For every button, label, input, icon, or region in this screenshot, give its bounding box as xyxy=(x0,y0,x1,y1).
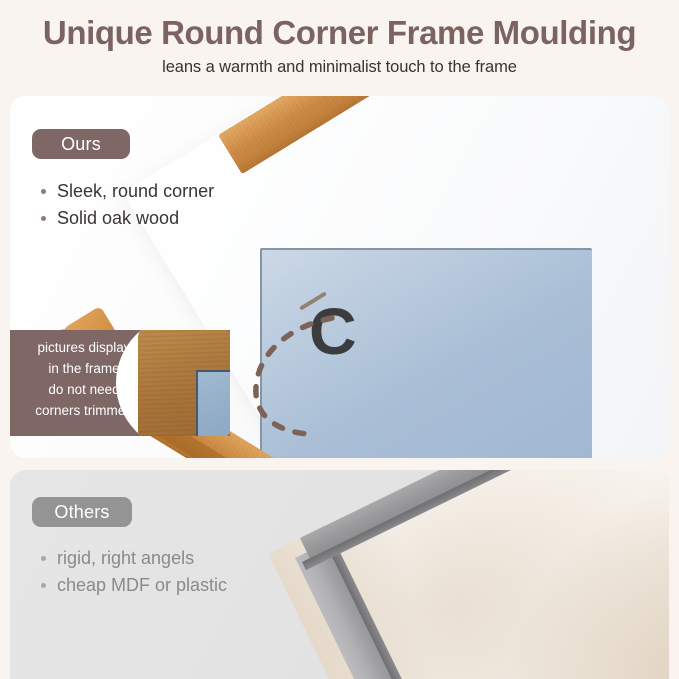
page-subtitle: leans a warmth and minimalist touch to t… xyxy=(10,58,669,77)
badge-others: Others xyxy=(32,497,132,527)
callout-photo-area xyxy=(196,370,230,436)
callout-line: do not need xyxy=(16,380,152,401)
header: Unique Round Corner Frame Moulding leans… xyxy=(0,0,679,77)
callout-line: in the frame xyxy=(16,359,152,380)
list-item: Sleek, round corner xyxy=(40,178,214,205)
others-feature-list: rigid, right angels cheap MDF or plastic xyxy=(40,545,227,598)
framed-print-blue: C xyxy=(260,248,592,458)
print-letter: C xyxy=(309,298,357,364)
callout-line: pictures display xyxy=(16,338,152,359)
callout-box-corners-trimmed: pictures display in the frame do not nee… xyxy=(10,330,230,436)
list-item: cheap MDF or plastic xyxy=(40,572,227,599)
list-item: rigid, right angels xyxy=(40,545,227,572)
ours-feature-list: Sleek, round corner Solid oak wood xyxy=(40,178,214,231)
panel-ours: C Ours Sleek, round corner Solid oak woo… xyxy=(10,96,669,458)
badge-ours: Ours xyxy=(32,129,130,159)
callout-text: pictures display in the frame do not nee… xyxy=(16,338,152,422)
page-title: Unique Round Corner Frame Moulding xyxy=(10,14,669,53)
badge-others-label: Others xyxy=(54,502,109,523)
list-item: Solid oak wood xyxy=(40,205,214,232)
panel-others: Others rigid, right angels cheap MDF or … xyxy=(10,470,669,679)
badge-ours-label: Ours xyxy=(61,134,101,155)
callout-line: corners trimmed xyxy=(16,401,152,422)
